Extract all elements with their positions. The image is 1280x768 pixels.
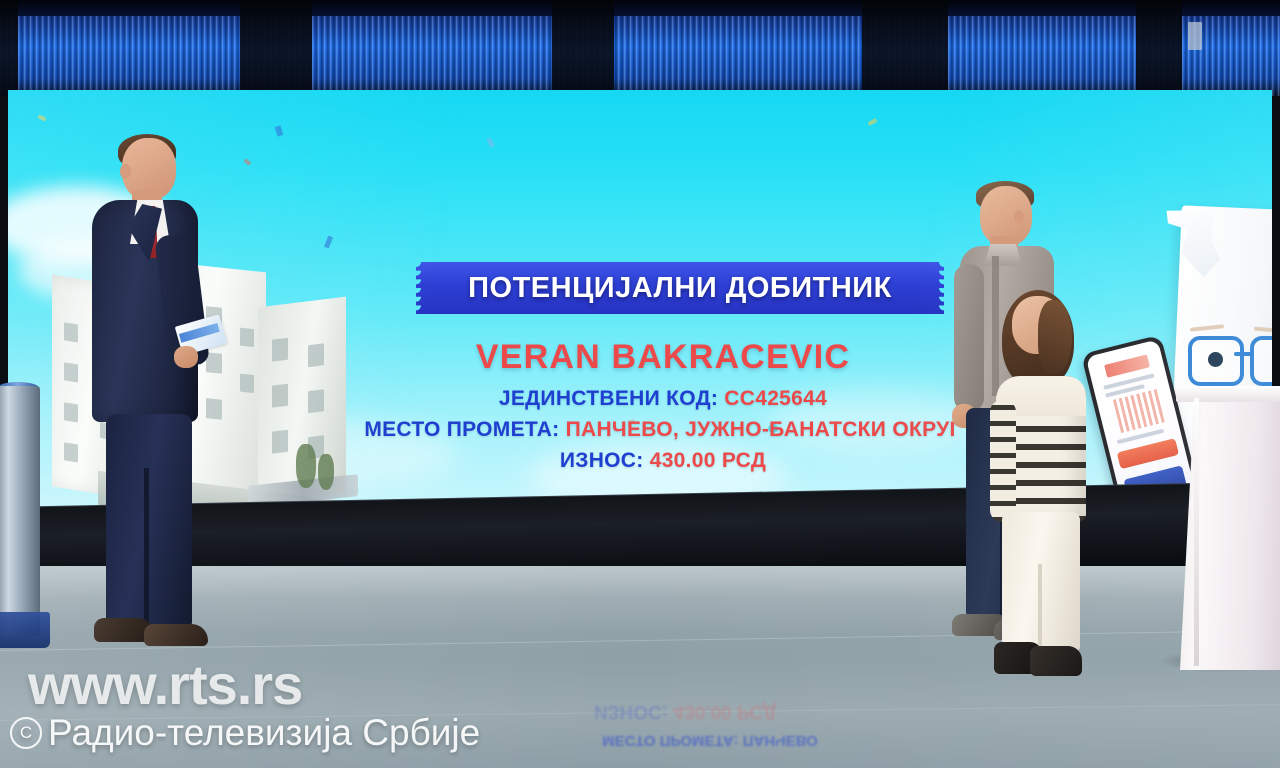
guest-adult-ear bbox=[1014, 210, 1024, 224]
field-place: МЕСТО ПРОМЕТА: ПАНЧЕВО, ЈУЖНО-БАНАТСКИ О… bbox=[338, 414, 988, 445]
backdrop-dark-panel bbox=[552, 0, 614, 96]
card-stripe bbox=[179, 323, 220, 343]
guest-adult-arm bbox=[954, 264, 984, 412]
left-cylinder-podium bbox=[0, 386, 40, 636]
field-amount: ИЗНОС: 430.00 РСД bbox=[338, 445, 988, 476]
banner-ticket: ПОТЕНЦИЈАЛНИ ДОБИТНИК bbox=[416, 262, 944, 314]
guest-child-boot bbox=[1030, 646, 1082, 676]
guest-adult-collar bbox=[984, 244, 1022, 266]
backdrop-dark-panel bbox=[0, 0, 18, 96]
mascot-lens-left bbox=[1188, 336, 1244, 386]
tv-broadcast-frame: ПОТЕНЦИЈАЛНИ ДОБИТНИК VERAN BAKRACEVIC Ј… bbox=[0, 0, 1280, 768]
backdrop-top-shadow bbox=[0, 0, 1280, 16]
presenter-ear bbox=[120, 164, 131, 179]
backdrop-dark-panel bbox=[240, 0, 312, 96]
presenter-hand bbox=[174, 346, 198, 368]
field-unique-code-label: ЈЕДИНСТВЕНИ КОД: bbox=[499, 387, 718, 410]
glasses-icon bbox=[1188, 336, 1272, 380]
tree-decoration bbox=[296, 444, 316, 488]
backdrop-dark-panel bbox=[1136, 0, 1182, 96]
guest-child bbox=[990, 296, 1090, 680]
presenter-leg-split bbox=[144, 468, 149, 628]
winner-info-block: VERAN BAKRACEVIC ЈЕДИНСТВЕНИ КОД: CC4256… bbox=[338, 338, 988, 476]
left-podium-base bbox=[0, 612, 50, 648]
field-unique-code-value: CC425644 bbox=[724, 387, 827, 410]
field-unique-code: ЈЕДИНСТВЕНИ КОД: CC425644 bbox=[338, 383, 988, 414]
phone-app-logo bbox=[1104, 354, 1150, 377]
winner-name: VERAN BAKRACEVIC bbox=[338, 338, 988, 377]
field-place-value: ПАНЧЕВО, ЈУЖНО-БАНАТСКИ ОКРУГ bbox=[566, 418, 962, 441]
guest-child-leg-split bbox=[1038, 564, 1042, 654]
mascot-lens-right bbox=[1250, 336, 1272, 386]
phone-barcode bbox=[1113, 389, 1166, 433]
tree-decoration bbox=[318, 454, 334, 490]
guest-child-arm bbox=[990, 400, 1016, 522]
presenter-shoe bbox=[144, 624, 208, 646]
presenter bbox=[70, 138, 220, 658]
guest-child-hair-front bbox=[1038, 300, 1072, 374]
presenter-trousers bbox=[106, 414, 192, 628]
phone-primary-button bbox=[1117, 438, 1179, 469]
field-amount-value: 430.00 РСД bbox=[650, 449, 766, 472]
mascot-glasses-bridge bbox=[1234, 352, 1254, 356]
field-place-label: МЕСТО ПРОМЕТА: bbox=[364, 418, 559, 441]
banner-title: ПОТЕНЦИЈАЛНИ ДОБИТНИК bbox=[416, 262, 944, 314]
right-podium-edge bbox=[1194, 398, 1199, 666]
right-podium-top bbox=[1176, 386, 1280, 402]
backdrop-dark-panel bbox=[862, 0, 948, 96]
mascot-pupil-left bbox=[1208, 352, 1223, 367]
field-amount-label: ИЗНОС: bbox=[560, 449, 644, 472]
studio-door-handle bbox=[1188, 22, 1202, 50]
